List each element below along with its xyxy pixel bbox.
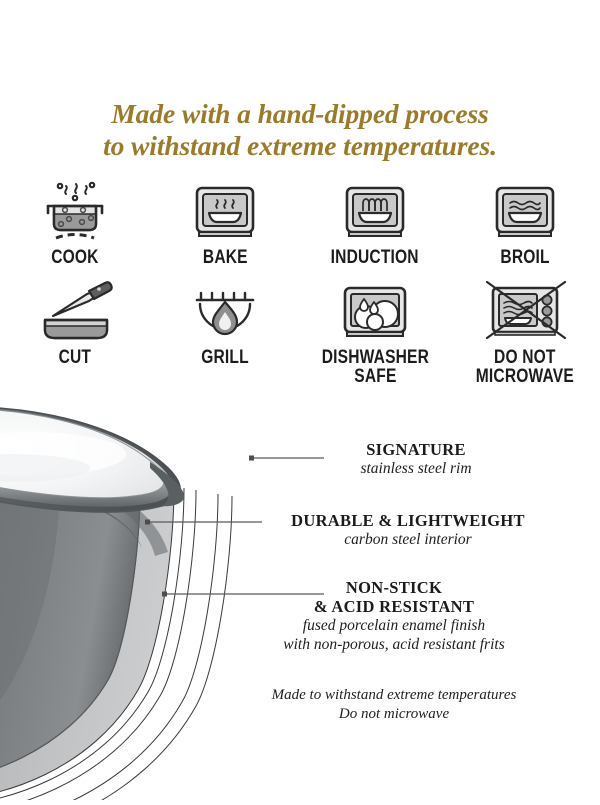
callout-durable-title: DURABLE & LIGHTWEIGHT [258,511,558,530]
icon-label-bake: BAKE [203,248,248,267]
broil-icon [485,180,565,244]
footnote-text: Made to withstand extreme temperatures D… [224,686,564,724]
headline-line-1: Made with a hand-dipped process [0,98,600,130]
icon-label-grill: GRILL [201,348,249,367]
icon-label-broil: BROIL [500,248,549,267]
do-not-microwave-icon [479,280,571,344]
icon-cell-induction: INDUCTION [300,180,450,280]
cook-icon [32,180,118,244]
cut-icon [29,280,121,344]
callout-nonstick-title: NON-STICK & ACID RESISTANT [224,578,564,616]
headline-line-2: to withstand extreme temperatures. [0,130,600,162]
icon-cell-broil: BROIL [450,180,600,280]
callout-nonstick-subtitle: fused porcelain enamel finish with non-p… [224,616,564,654]
icon-label-induction: INDUCTION [331,248,419,267]
callout-signature-subtitle: stainless steel rim [296,459,536,478]
icon-label-cook: COOK [51,248,98,267]
induction-icon [335,180,415,244]
callout-signature-title: SIGNATURE [296,440,536,459]
bake-icon [185,180,265,244]
icon-label-cut: CUT [59,348,92,367]
callout-durable: DURABLE & LIGHTWEIGHT carbon steel inter… [258,511,558,549]
icon-cell-cook: COOK [0,180,150,280]
feature-icon-grid: COOK BAK [0,180,600,392]
callout-signature: SIGNATURE stainless steel rim [296,440,536,478]
icon-row-1: COOK BAK [0,180,600,280]
callout-durable-subtitle: carbon steel interior [258,530,558,549]
icon-label-dishwasher-safe: DISHWASHER SAFE [321,348,428,386]
dishwasher-safe-icon [333,280,417,344]
page-title: Made with a hand-dipped process to withs… [0,98,600,162]
icon-label-do-not-microwave: DO NOT MICROWAVE [476,348,574,386]
icon-cell-bake: BAKE [150,180,300,280]
grill-icon [185,280,265,344]
callout-nonstick: NON-STICK & ACID RESISTANT fused porcela… [224,578,564,654]
icon-cell-do-not-microwave: DO NOT MICROWAVE [450,280,600,392]
